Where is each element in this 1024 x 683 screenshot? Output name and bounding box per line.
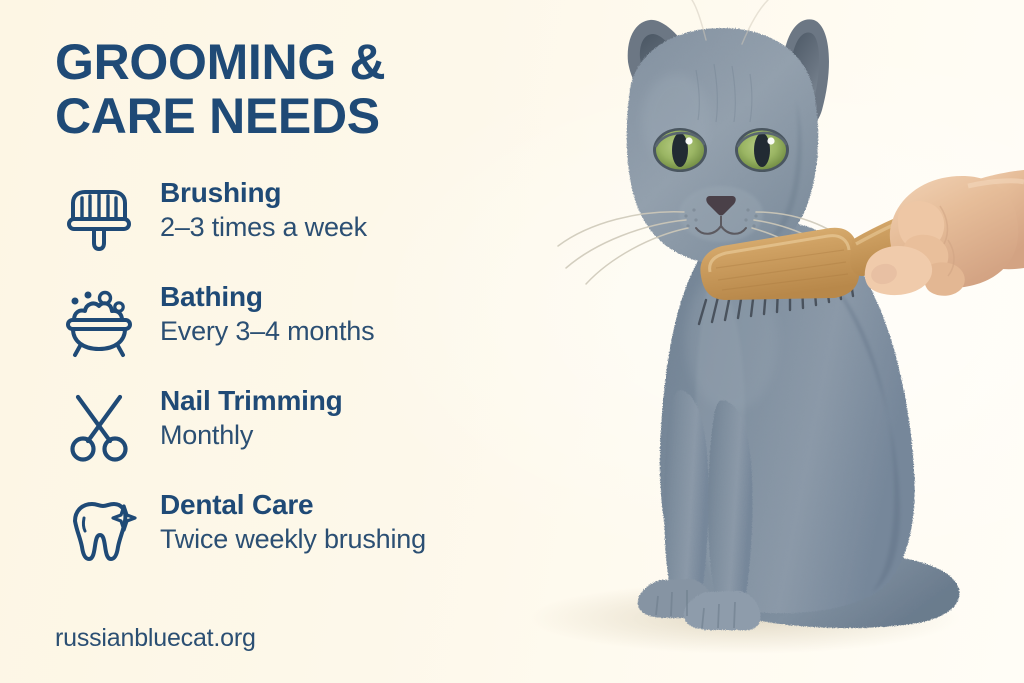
scissors-icon	[61, 389, 137, 465]
list-item-bathing: Bathing Every 3–4 months	[55, 281, 525, 377]
hair-brush-icon	[61, 181, 137, 257]
item-subtitle: 2–3 times a week	[160, 211, 525, 243]
list-item-dental-care: Dental Care Twice weekly brushing	[55, 489, 525, 585]
item-title: Nail Trimming	[160, 385, 525, 416]
item-title: Brushing	[160, 177, 525, 208]
content-column: GROOMING & CARE NEEDS	[55, 36, 525, 593]
item-subtitle: Every 3–4 months	[160, 315, 525, 347]
footer-url: russianbluecat.org	[55, 624, 256, 653]
list-item-nail-trimming: Nail Trimming Monthly	[55, 385, 525, 481]
item-subtitle: Monthly	[160, 419, 525, 451]
infographic-canvas: GROOMING & CARE NEEDS	[0, 0, 1024, 683]
list-item-brushing: Brushing 2–3 times a week	[55, 177, 525, 273]
item-title: Bathing	[160, 281, 525, 312]
cat-illustration	[500, 0, 1024, 683]
tooth-sparkle-icon	[61, 493, 137, 569]
item-title: Dental Care	[160, 489, 525, 520]
page-title: GROOMING & CARE NEEDS	[55, 36, 525, 143]
grooming-list: Brushing 2–3 times a week	[55, 177, 525, 585]
item-subtitle: Twice weekly brushing	[160, 523, 525, 555]
bathtub-icon	[61, 285, 137, 361]
